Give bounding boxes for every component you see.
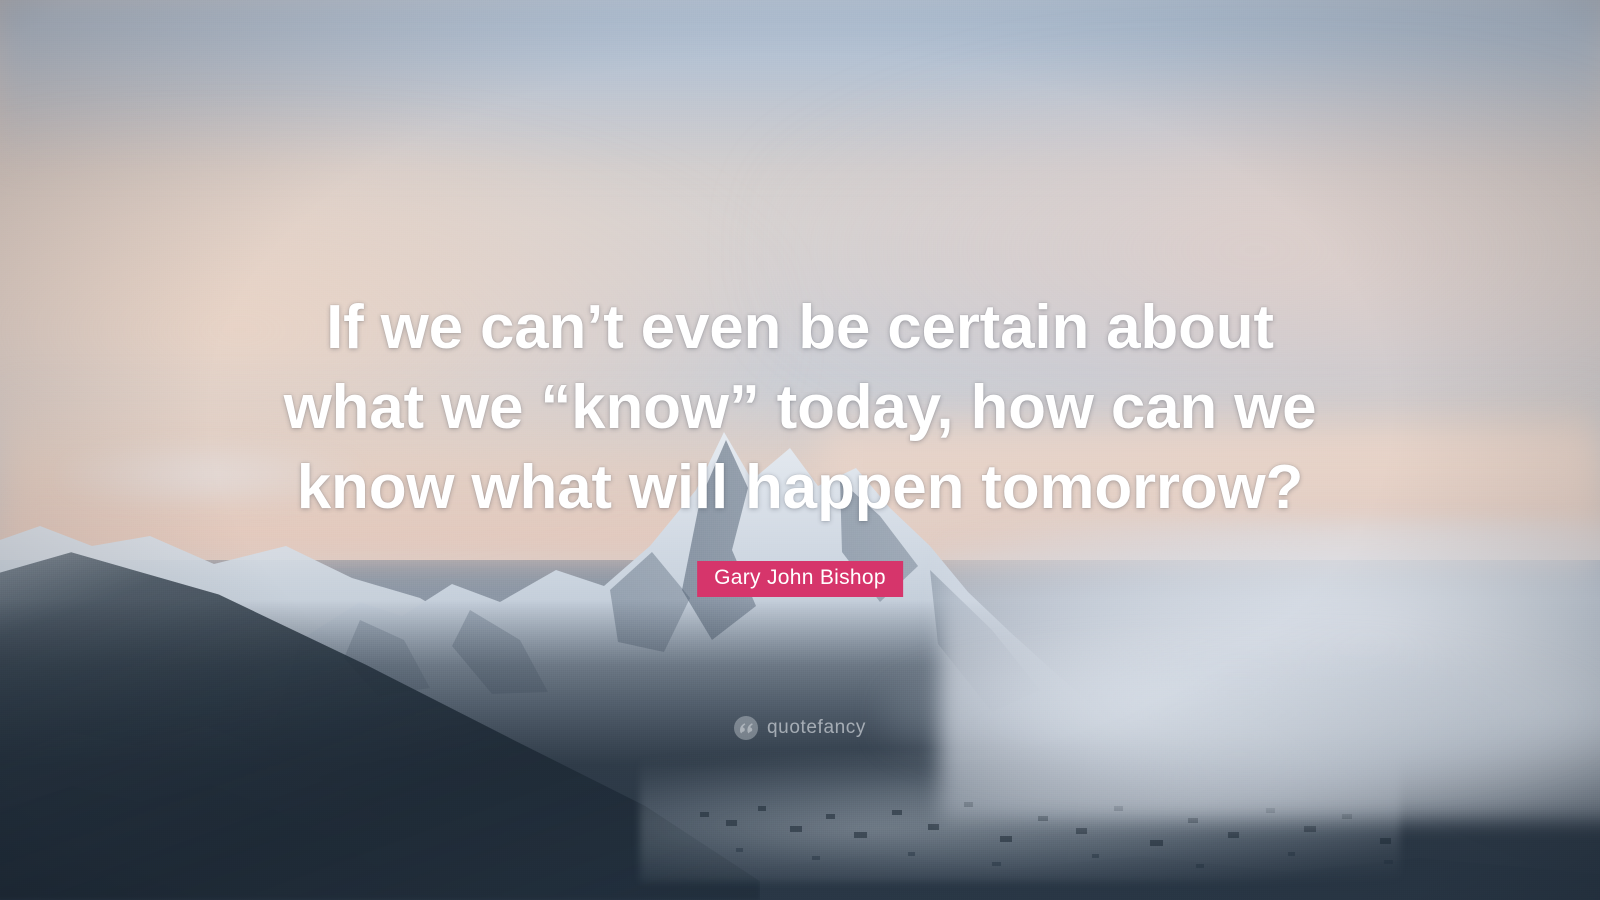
quote-card: If we can’t even be certain about what w… <box>0 0 1600 900</box>
background-photo <box>0 0 1600 900</box>
low-mist <box>880 640 1600 790</box>
